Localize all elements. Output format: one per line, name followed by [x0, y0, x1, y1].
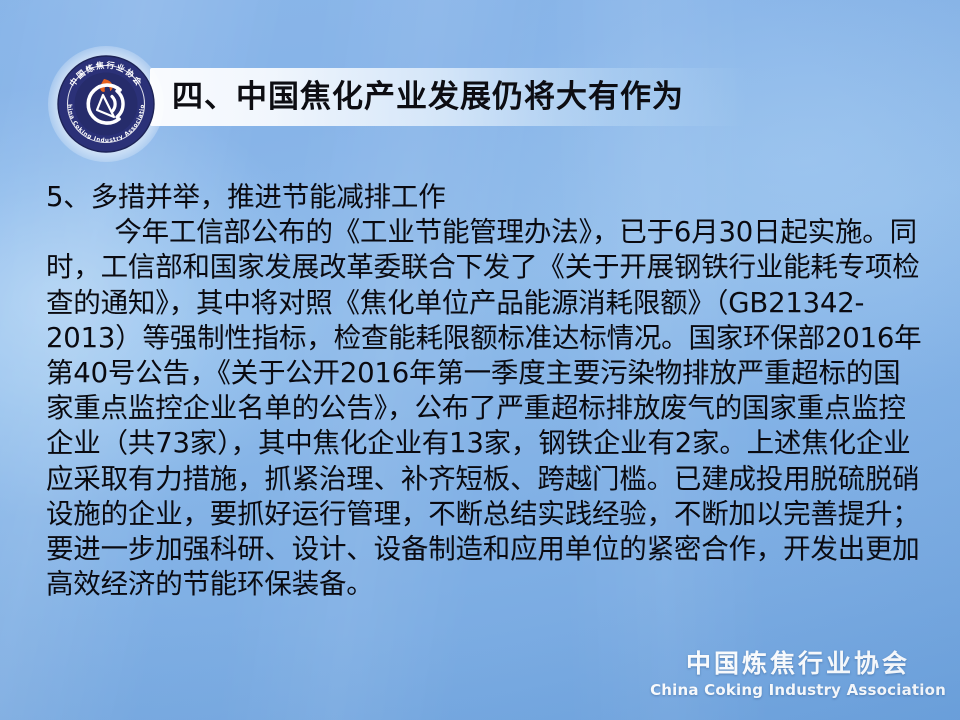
footer-org-name-cn: 中国炼焦行业协会: [650, 651, 946, 676]
slide-title: 四、中国焦化产业发展仍将大有作为: [172, 70, 684, 124]
footer-association-logotype: 中国炼焦行业协会 China Coking Industry Associati…: [650, 651, 946, 698]
association-emblem-icon: 中国炼焦行业协会 China Coking Industry Associati…: [57, 55, 155, 153]
slide-body: 5、多措并举，推进节能减排工作 今年工信部公布的《工业节能管理办法》，已于6月3…: [46, 180, 926, 602]
body-heading: 5、多措并举，推进节能减排工作: [46, 180, 926, 215]
presentation-slide: 四、中国焦化产业发展仍将大有作为 中国炼焦行业协会 China Coking I…: [0, 0, 960, 720]
footer-org-name-en: China Coking Industry Association: [650, 683, 946, 698]
association-logo: 中国炼焦行业协会 China Coking Industry Associati…: [57, 55, 155, 153]
body-paragraph: 今年工信部公布的《工业节能管理办法》，已于6月30日起实施。同时，工信部和国家发…: [46, 215, 926, 602]
